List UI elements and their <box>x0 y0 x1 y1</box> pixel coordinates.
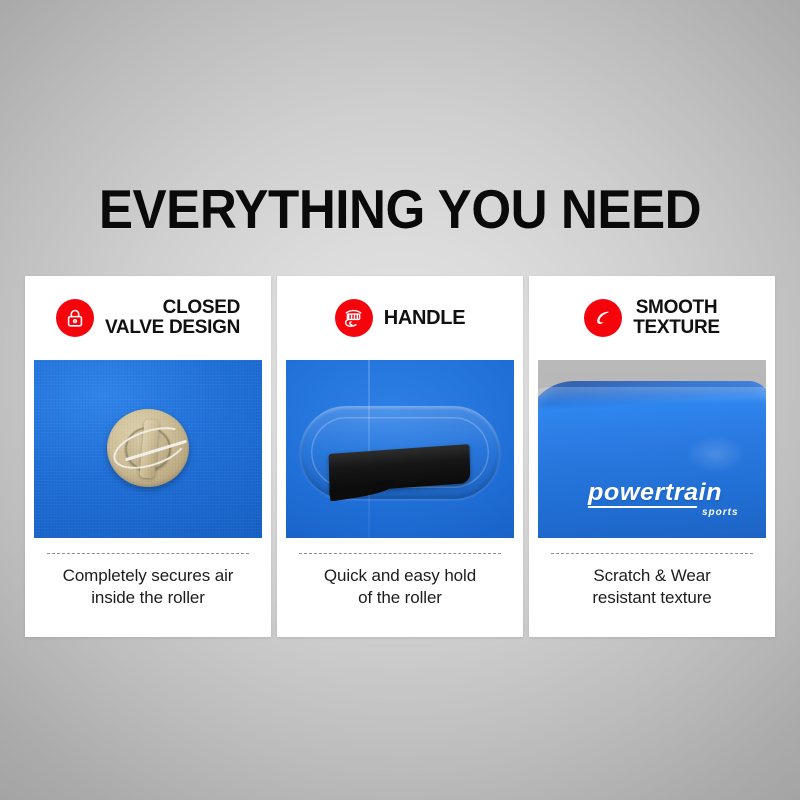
panel-title: SMOOTH TEXTURE <box>633 298 720 338</box>
panel-header: CLOSED VALVE DESIGN <box>25 276 271 360</box>
panel-title: CLOSED VALVE DESIGN <box>105 298 240 338</box>
panel-caption: Quick and easy hold of the roller <box>277 554 523 637</box>
inflatable-roller <box>538 381 766 538</box>
panel-caption: Completely secures air inside the roller <box>25 554 271 637</box>
panel-title: HANDLE <box>384 308 466 329</box>
handle-strap-photo <box>286 360 514 538</box>
panel-header: SMOOTH TEXTURE <box>529 276 775 360</box>
panel-caption: Scratch & Wear resistant texture <box>529 554 775 637</box>
feature-panel-smooth-texture[interactable]: SMOOTH TEXTURE powertrain sports Scratch… <box>529 276 775 637</box>
vinyl-seam <box>368 360 370 538</box>
feather-icon <box>584 299 622 337</box>
feature-panel-handle[interactable]: HANDLE Quick and easy hold of the roller <box>277 276 523 637</box>
page-title: EVERYTHING YOU NEED <box>28 181 772 239</box>
padlock-icon <box>56 299 94 337</box>
feature-panel-closed-valve[interactable]: CLOSED VALVE DESIGN Completely secures a… <box>25 276 271 637</box>
closed-valve-photo <box>34 360 262 538</box>
black-handle-strap <box>329 444 471 493</box>
feature-panel-row: CLOSED VALVE DESIGN Completely secures a… <box>25 276 775 637</box>
smooth-texture-photo: powertrain sports <box>538 360 766 538</box>
panel-header: HANDLE <box>277 276 523 360</box>
grip-hand-icon <box>335 299 373 337</box>
promo-infographic: EVERYTHING YOU NEED CLOSED VALVE DESIGN <box>0 0 800 800</box>
